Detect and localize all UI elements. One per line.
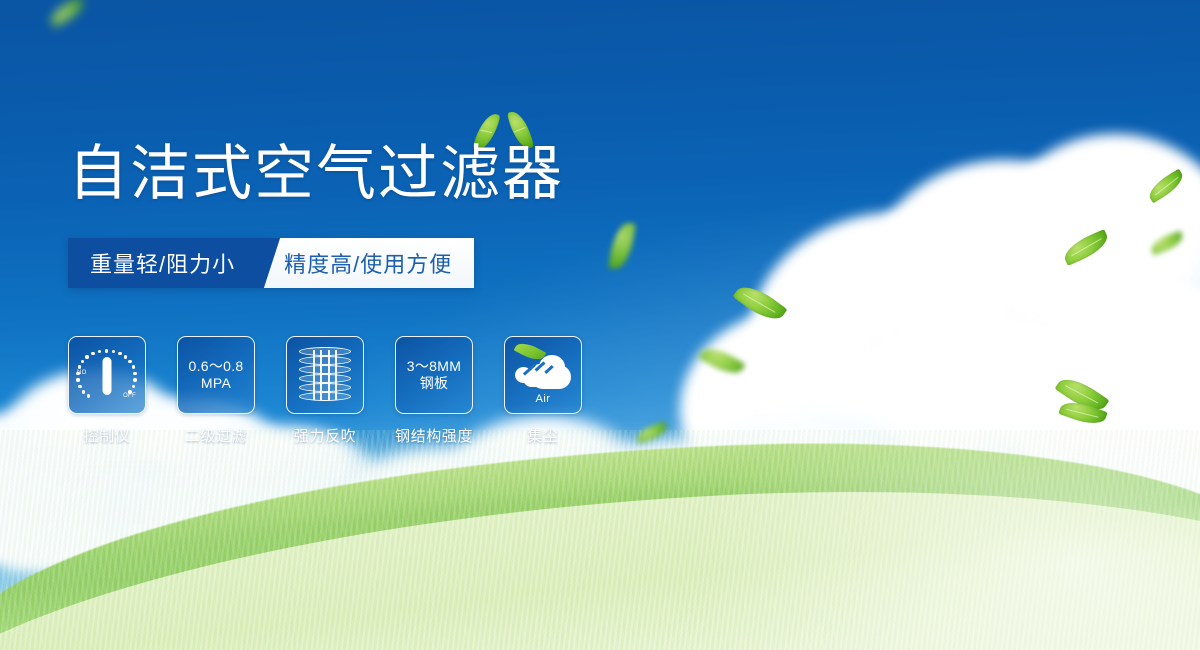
feature-icon-box: 3～8MM 钢板 [395, 336, 473, 414]
air-cloud-icon: Air [513, 349, 573, 401]
product-banner: 自洁式空气过滤器 重量轻/阻力小 精度高/使用方便 [0, 0, 1200, 650]
subtitle-left: 重量轻/阻力小 [68, 238, 259, 288]
steel-plate-text-icon: 3～8MM 钢板 [407, 358, 461, 393]
subtitle-right: 精度高/使用方便 [258, 238, 474, 288]
feature-item-secondary-filter[interactable]: 0.6～0.8 MPA 二级过滤 [177, 336, 255, 446]
feature-icon-box [286, 336, 364, 414]
feature-icon-box: 0.6～0.8 MPA [177, 336, 255, 414]
feature-item-steel-strength[interactable]: 3～8MM 钢板 钢结构强度 [395, 336, 473, 446]
feature-label: 集尘 [527, 425, 558, 446]
dial-no-label: NO [77, 370, 87, 376]
feature-label: 钢结构强度 [395, 425, 473, 446]
feature-label: 二级过滤 [185, 425, 247, 446]
subtitle-bar: 重量轻/阻力小 精度高/使用方便 [68, 238, 474, 288]
feature-item-dust-collection[interactable]: Air 集尘 [504, 336, 582, 446]
filter-stack-icon [299, 347, 351, 403]
dial-off-label: OFF [123, 393, 136, 399]
steel-line-2: 钢板 [407, 375, 461, 393]
feature-icon-box: Air [504, 336, 582, 414]
pressure-line-1: 0.6～0.8 [188, 358, 243, 376]
pressure-line-2: MPA [188, 375, 243, 393]
steel-line-1: 3～8MM [407, 358, 461, 376]
feature-icon-box: NO OFF [68, 336, 146, 414]
page-title: 自洁式空气过滤器 [68, 142, 564, 205]
feature-label: 控制仪 [84, 425, 131, 446]
feature-item-blowback[interactable]: 强力反吹 [286, 336, 364, 446]
dial-gauge-icon: NO OFF [77, 346, 137, 404]
pressure-text-icon: 0.6～0.8 MPA [188, 358, 243, 393]
feature-label: 强力反吹 [294, 425, 356, 446]
grass-field [0, 430, 1200, 650]
feature-list: NO OFF 控制仪 0.6～0.8 MPA 二级过滤 [68, 336, 582, 446]
feature-item-controller[interactable]: NO OFF 控制仪 [68, 336, 146, 446]
air-label: Air [536, 393, 551, 405]
